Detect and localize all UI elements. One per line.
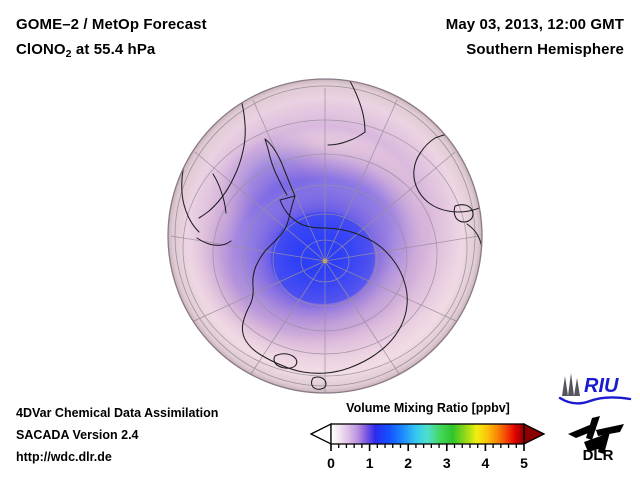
colorbar-title: Volume Mixing Ratio [ppbv] xyxy=(308,400,548,416)
colorbar-tick-label: 4 xyxy=(482,455,490,471)
colorbar-tick-label: 5 xyxy=(520,455,528,471)
footer-line-method: 4DVar Chemical Data Assimilation xyxy=(16,402,218,424)
colorbar: Volume Mixing Ratio [ppbv] 012345 xyxy=(305,400,550,478)
riu-wave-icon xyxy=(560,397,630,403)
colorbar-tick-label: 0 xyxy=(327,455,335,471)
colorbar-right-cap xyxy=(524,424,544,444)
species-name: ClONO xyxy=(16,41,66,58)
hemisphere-label: Southern Hemisphere xyxy=(446,37,624,62)
riu-logo: RIU xyxy=(558,372,632,406)
colorbar-ticks xyxy=(331,444,524,451)
colorbar-tick-label: 3 xyxy=(443,455,451,471)
level-text: at 55.4 hPa xyxy=(72,41,156,58)
footer-credits: 4DVar Chemical Data Assimilation SACADA … xyxy=(16,402,218,468)
species-level-title: ClONO2 at 55.4 hPa xyxy=(16,37,207,64)
species-subscript: 2 xyxy=(66,48,72,60)
timestamp: May 03, 2013, 12:00 GMT xyxy=(446,12,624,37)
dlr-logo: DLR xyxy=(562,414,634,462)
footer-line-version: SACADA Version 2.4 xyxy=(16,424,218,446)
dlr-wordmark: DLR xyxy=(583,447,614,462)
colorbar-gradient xyxy=(331,424,524,444)
colorbar-tick-labels: 012345 xyxy=(327,455,528,471)
footer-line-url[interactable]: http://wdc.dlr.de xyxy=(16,446,218,468)
riu-wordmark: RIU xyxy=(584,375,619,397)
globe-map xyxy=(167,78,483,394)
header-right: May 03, 2013, 12:00 GMT Southern Hemisph… xyxy=(446,12,624,62)
colorbar-left-cap xyxy=(311,424,331,444)
colorbar-tick-label: 1 xyxy=(366,455,374,471)
header-left: GOME–2 / MetOp Forecast ClONO2 at 55.4 h… xyxy=(16,12,207,64)
colorbar-tick-label: 2 xyxy=(404,455,412,471)
riu-towers-icon xyxy=(562,373,580,396)
globe-shading xyxy=(168,79,482,393)
south-pole-marker xyxy=(323,259,328,264)
instrument-title: GOME–2 / MetOp Forecast xyxy=(16,12,207,37)
